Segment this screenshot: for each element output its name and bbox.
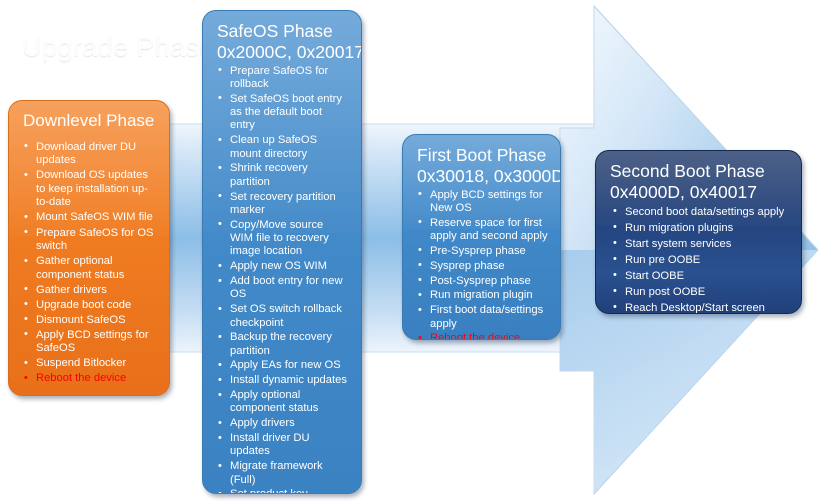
list-item: Upgrade boot code [21,299,159,314]
phase-code-firstboot: 0x30018, 0x3000D [417,166,550,186]
list-item: Second boot data/settings apply [608,205,791,221]
phase-title-safeos: SafeOS Phase [217,21,351,41]
list-item: Gather optional component status [21,255,159,284]
phase-title-downlevel: Downlevel Phase [23,111,159,131]
phase-card-firstboot[interactable]: First Boot Phase 0x30018, 0x3000D Apply … [402,134,561,340]
list-item: Set OS switch rollback checkpoint [215,303,351,331]
list-item: Suspend Bitlocker [21,357,159,372]
phase-card-safeos[interactable]: SafeOS Phase 0x2000C, 0x20017 Prepare Sa… [202,10,362,494]
phase-card-secondboot[interactable]: Second Boot Phase 0x4000D, 0x40017 Secon… [595,150,802,314]
list-item-reboot: Reboot the device [21,372,159,387]
list-item: Reserve space for first apply and second… [415,217,550,245]
list-item: Sysprep phase [415,260,550,275]
phase-item-list-safeos: Prepare SafeOS for rollback Set SafeOS b… [215,65,351,494]
list-item: Download driver DU updates [21,141,159,170]
list-item: Run post OOBE [608,285,791,301]
list-item: Download OS updates to keep installation… [21,169,159,211]
phase-card-downlevel[interactable]: Downlevel Phase Download driver DU updat… [8,100,170,396]
list-item: Set recovery partition marker [215,191,351,219]
list-item: Install dynamic updates [215,374,351,389]
list-item: First boot data/settings apply [415,304,550,332]
list-item: Pre-Sysprep phase [415,245,550,260]
phase-code-safeos: 0x2000C, 0x20017 [217,42,351,62]
list-item: Reach Desktop/Start screen [608,301,791,314]
list-item: Apply EAs for new OS [215,359,351,374]
list-item: Apply BCD settings for New OS [415,189,550,217]
list-item: Start OOBE [608,269,791,285]
list-item-reboot: Reboot the device [415,332,550,340]
list-item: Dismount SafeOS [21,314,159,329]
list-item: Apply BCD settings for SafeOS [21,329,159,358]
list-item: Shrink recovery partition [215,162,351,190]
list-item: Apply drivers [215,417,351,432]
list-item: Migrate framework (Full) [215,460,351,488]
list-item: Prepare SafeOS for OS switch [21,227,159,256]
list-item: Apply optional component status [215,389,351,417]
phase-item-list-secondboot: Second boot data/settings apply Run migr… [608,205,791,314]
phase-title-secondboot: Second Boot Phase [610,161,791,181]
list-item: Apply new OS WIM [215,260,351,275]
list-item: Run pre OOBE [608,253,791,269]
list-item: Gather drivers [21,284,159,299]
phase-item-list-firstboot: Apply BCD settings for New OS Reserve sp… [415,189,550,340]
list-item: Post-Sysprep phase [415,275,550,290]
list-item: Set SafeOS boot entry as the default boo… [215,93,351,134]
list-item: Clean up SafeOS mount directory [215,134,351,162]
list-item: Copy/Move source WIM file to recovery im… [215,219,351,260]
list-item: Backup the recovery partition [215,331,351,359]
list-item: Run migration plugin [415,289,550,304]
diagram-canvas: Upgrade Phases Downlevel Phase Download … [0,0,825,501]
list-item: Start system services [608,237,791,253]
list-item: Prepare SafeOS for rollback [215,65,351,93]
list-item: Run migration plugins [608,221,791,237]
phase-code-secondboot: 0x4000D, 0x40017 [610,182,791,202]
phase-item-list-downlevel: Download driver DU updates Download OS u… [21,141,159,388]
list-item: Add boot entry for new OS [215,275,351,303]
phase-title-firstboot: First Boot Phase [417,145,550,165]
list-item: Install driver DU updates [215,432,351,460]
watermark-text: Upgrade Phases [22,32,229,63]
list-item: Mount SafeOS WIM file [21,211,159,226]
list-item: Set product key [215,488,351,494]
